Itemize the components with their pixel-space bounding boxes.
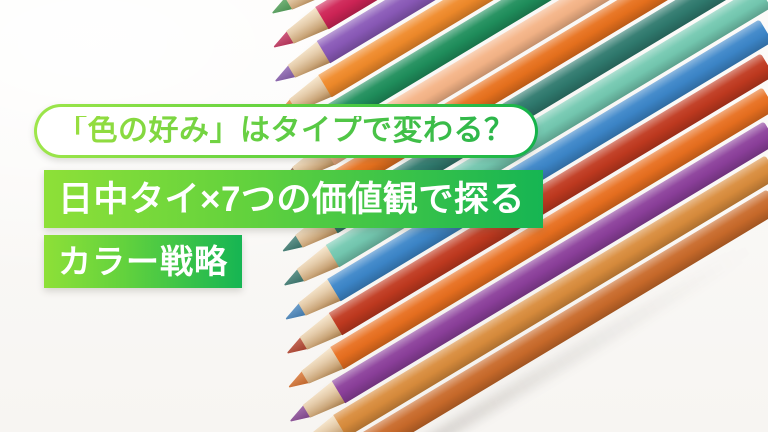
headline-line-1: 「色の好み」はタイプで変わる？ bbox=[34, 104, 538, 158]
poster-canvas: 「色の好み」はタイプで変わる？ 日中タイ×7つの価値観で探る カラー戦略 bbox=[0, 0, 768, 432]
headline-line-2-text: 日中タイ×7つの価値観で探る bbox=[58, 182, 525, 217]
headline-line-3: カラー戦略 bbox=[44, 235, 242, 288]
headline-line-1-text: 「色の好み」はタイプで変わる？ bbox=[57, 116, 515, 146]
headline-line-2: 日中タイ×7つの価値観で探る bbox=[44, 170, 543, 228]
headline-group: 「色の好み」はタイプで変わる？ 日中タイ×7つの価値観で探る カラー戦略 bbox=[0, 0, 768, 432]
headline-line-3-text: カラー戦略 bbox=[58, 245, 228, 278]
